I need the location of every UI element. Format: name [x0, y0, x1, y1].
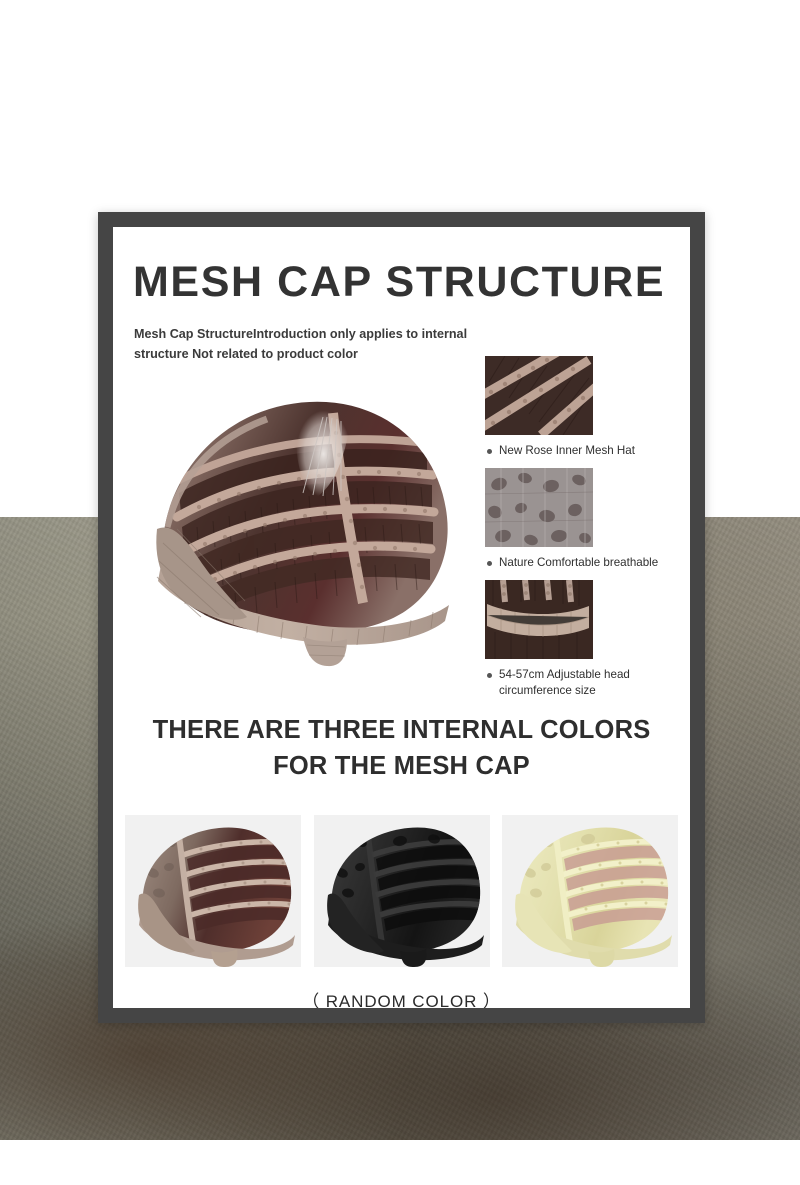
nape-strap	[303, 637, 347, 666]
feature-item: New Rose Inner Mesh Hat	[485, 356, 681, 459]
breathable-mesh-closeup-thumb	[485, 468, 593, 547]
poster-frame: MESH CAP STRUCTURE Mesh Cap StructureInt…	[98, 212, 705, 1023]
feature-label: 54-57cm Adjustable head circumference si…	[499, 667, 681, 699]
bullet-dot-icon	[487, 673, 492, 678]
section-heading-line2: FOR THE MESH CAP	[273, 752, 530, 780]
infographic-page: MESH CAP STRUCTURE Mesh Cap StructureInt…	[0, 0, 800, 1185]
poster-content: MESH CAP STRUCTURE Mesh Cap StructureInt…	[113, 227, 690, 1008]
swatch-beige-yellow	[502, 815, 678, 967]
swatch-brown-rose	[125, 815, 301, 967]
section-heading-line1: THERE ARE THREE INTERNAL COLORS	[153, 716, 651, 744]
feature-label-row: Nature Comfortable breathable	[485, 555, 681, 571]
feature-label: Nature Comfortable breathable	[499, 555, 658, 571]
feature-label-row: 54-57cm Adjustable head circumference si…	[485, 667, 681, 699]
page-title: MESH CAP STRUCTURE	[133, 261, 673, 304]
swatch-black	[314, 815, 490, 967]
background-footer-strip	[0, 1140, 800, 1185]
feature-list: New Rose Inner Mesh Hat	[485, 356, 681, 708]
hero-product-image	[127, 377, 467, 677]
bullet-dot-icon	[487, 449, 492, 454]
random-color-note: （ RANDOM COLOR ）	[113, 987, 690, 1008]
swatch-cap-brown-rose	[125, 815, 301, 967]
feature-label: New Rose Inner Mesh Hat	[499, 443, 635, 459]
adjustable-band-closeup-thumb	[485, 580, 593, 659]
color-swatch-row	[125, 815, 678, 967]
feature-item: 54-57cm Adjustable head circumference si…	[485, 580, 681, 699]
mesh-cap-illustration	[127, 377, 467, 677]
feature-label-row: New Rose Inner Mesh Hat	[485, 443, 681, 459]
rose-lace-closeup-thumb	[485, 356, 593, 435]
bullet-dot-icon	[487, 561, 492, 566]
page-subtitle: Mesh Cap StructureIntroduction only appl…	[134, 324, 484, 365]
swatch-cap-black	[314, 815, 490, 967]
feature-item: Nature Comfortable breathable	[485, 468, 681, 571]
swatch-cap-beige-yellow	[502, 815, 678, 967]
section-heading: THERE ARE THREE INTERNAL COLORS FOR THE …	[113, 712, 690, 784]
